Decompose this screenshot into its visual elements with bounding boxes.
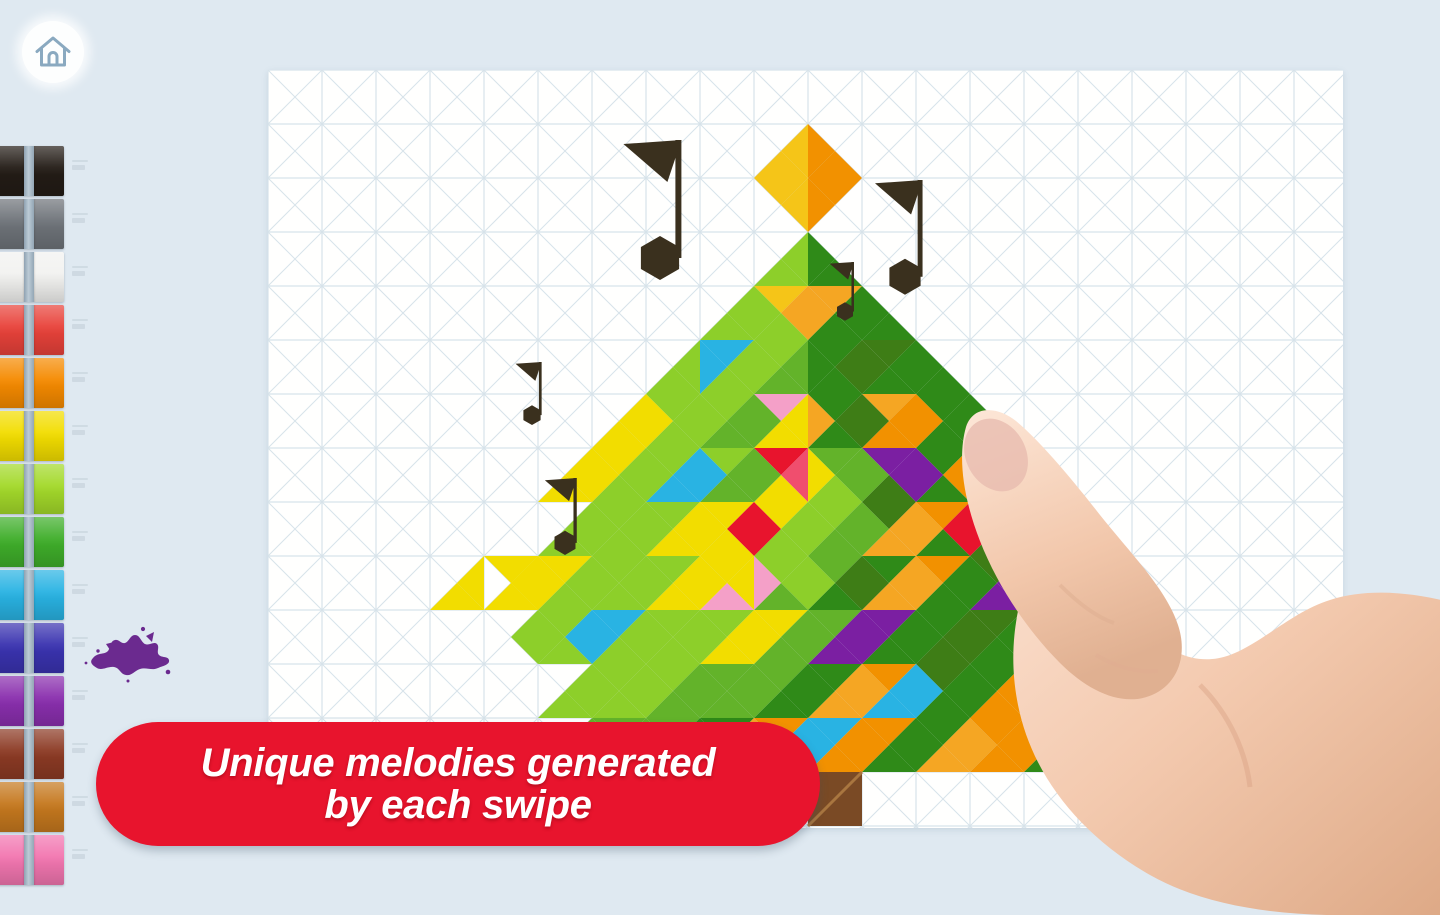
banner-text: Unique melodies generated by each swipe: [201, 742, 716, 827]
swatch-marker-icon: [72, 372, 90, 388]
swatch-marker-icon: [72, 743, 90, 759]
swatch-marker-icon: [72, 266, 90, 282]
swatch-clip-icon: [24, 570, 34, 620]
swatch-marker-icon: [72, 319, 90, 335]
banner-line-1: Unique melodies generated: [201, 742, 716, 784]
banner-line-2: by each swipe: [201, 784, 716, 826]
palette-swatch-light-green[interactable]: [0, 464, 96, 514]
music-note-icon: [623, 140, 681, 280]
swatch-color-green[interactable]: [0, 517, 64, 567]
swatch-clip-icon: [24, 729, 34, 779]
swatch-color-white[interactable]: [0, 252, 64, 302]
swatch-color-blue[interactable]: [0, 623, 64, 673]
swatch-color-gray[interactable]: [0, 199, 64, 249]
swatch-clip-icon: [24, 835, 34, 885]
palette-swatch-ochre[interactable]: [0, 782, 96, 832]
swatch-clip-icon: [24, 199, 34, 249]
palette-swatch-cyan[interactable]: [0, 570, 96, 620]
palette-swatch-pink[interactable]: [0, 835, 96, 885]
palette-swatch-red[interactable]: [0, 305, 96, 355]
palette-swatch-brown[interactable]: [0, 729, 96, 779]
swatch-clip-icon: [24, 252, 34, 302]
swatch-clip-icon: [24, 146, 34, 196]
swatch-clip-icon: [24, 411, 34, 461]
feature-banner: Unique melodies generated by each swipe: [96, 722, 820, 846]
swatch-color-light-green[interactable]: [0, 464, 64, 514]
drawing-canvas[interactable]: [268, 70, 1343, 828]
swatch-clip-icon: [24, 464, 34, 514]
home-button[interactable]: [22, 21, 84, 83]
swatch-marker-icon: [72, 796, 90, 812]
swatch-color-brown[interactable]: [0, 729, 64, 779]
swatch-clip-icon: [24, 623, 34, 673]
swatch-clip-icon: [24, 676, 34, 726]
palette-swatch-white[interactable]: [0, 252, 96, 302]
palette-swatch-gray[interactable]: [0, 199, 96, 249]
app-root: Unique melodies generated by each swipe: [0, 0, 1440, 900]
swatch-color-yellow[interactable]: [0, 411, 64, 461]
palette-swatch-green[interactable]: [0, 517, 96, 567]
paint-splat-icon: [80, 622, 178, 684]
home-icon: [34, 35, 72, 69]
swatch-clip-icon: [24, 358, 34, 408]
color-palette[interactable]: [0, 146, 96, 888]
swatch-marker-icon: [72, 531, 90, 547]
swatch-color-ochre[interactable]: [0, 782, 64, 832]
swatch-clip-icon: [24, 782, 34, 832]
swatch-color-orange[interactable]: [0, 358, 64, 408]
swatch-marker-icon: [72, 425, 90, 441]
swatch-clip-icon: [24, 517, 34, 567]
swatch-color-purple[interactable]: [0, 676, 64, 726]
swatch-marker-icon: [72, 160, 90, 176]
palette-swatch-black[interactable]: [0, 146, 96, 196]
swatch-marker-icon: [72, 213, 90, 229]
music-notes-layer: [268, 70, 1343, 828]
swatch-marker-icon: [72, 849, 90, 865]
music-note-icon: [516, 362, 542, 425]
swatch-clip-icon: [24, 305, 34, 355]
swatch-color-pink[interactable]: [0, 835, 64, 885]
swatch-marker-icon: [72, 584, 90, 600]
palette-swatch-yellow[interactable]: [0, 411, 96, 461]
swatch-color-red[interactable]: [0, 305, 64, 355]
palette-swatch-orange[interactable]: [0, 358, 96, 408]
swatch-color-cyan[interactable]: [0, 570, 64, 620]
swatch-marker-icon: [72, 690, 90, 706]
swatch-marker-icon: [72, 478, 90, 494]
music-note-icon: [875, 180, 923, 295]
music-note-icon: [545, 478, 577, 555]
music-note-icon: [830, 262, 854, 321]
swatch-color-black[interactable]: [0, 146, 64, 196]
